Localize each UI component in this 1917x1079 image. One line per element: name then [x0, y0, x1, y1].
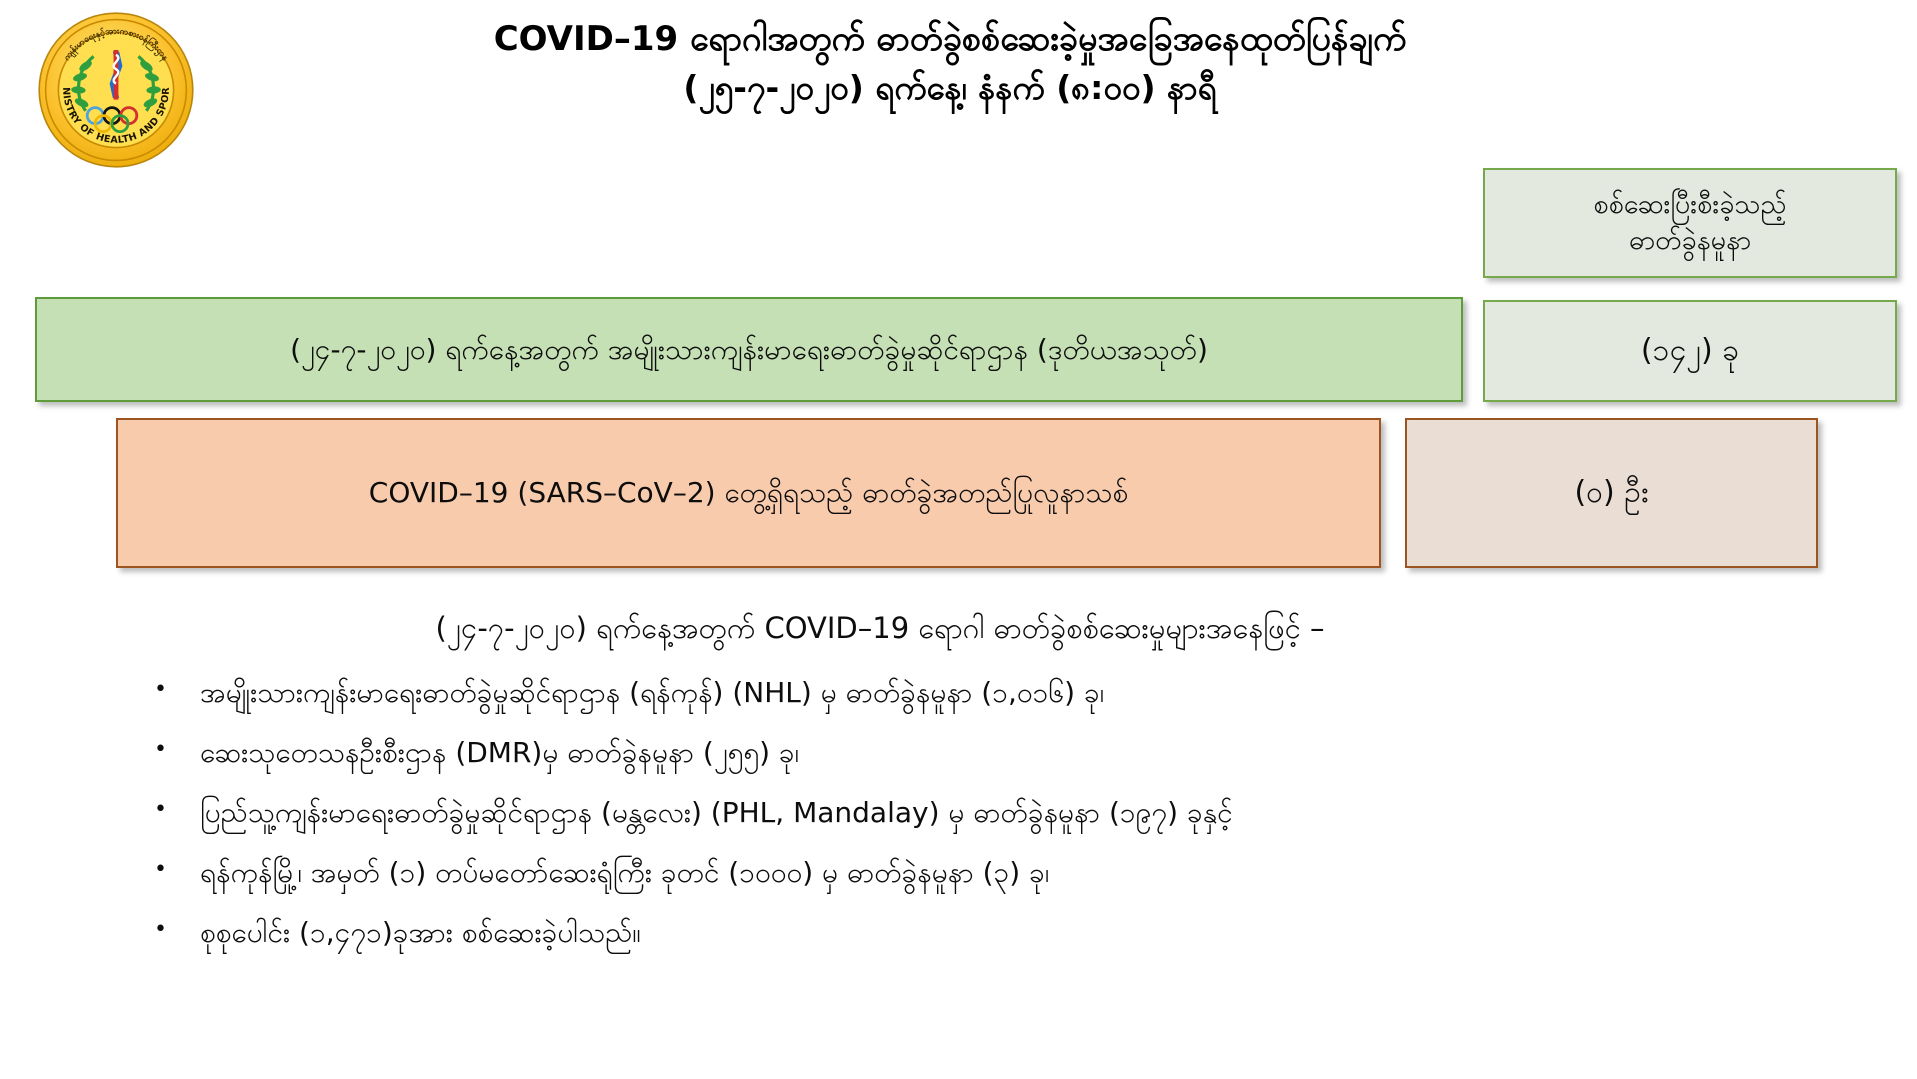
new-confirmed-count: (၀) ဦး: [1574, 473, 1648, 514]
new-confirmed-label: COVID–19 (SARS–CoV–2) တွေ့ရှိရသည့် ဓာတ်ခ…: [369, 474, 1128, 512]
bullet-dot-icon: •: [150, 675, 200, 705]
tested-samples-header-line1: စစ်ဆေးပြီးစီးခဲ့သည့်: [1593, 187, 1786, 223]
list-item: • ဆေးသုတေသနဦးစီးဌာန (DMR)မှ ဓာတ်ခွဲနမူနာ…: [150, 735, 1850, 770]
list-item: • စုစုပေါင်း (၁,၄၇၁)ခုအား စစ်ဆေးခဲ့ပါသည်…: [150, 915, 1850, 950]
list-item-label: ဆေးသုတေသနဦးစီးဌာန (DMR)မှ ဓာတ်ခွဲနမူနာ (…: [200, 735, 1850, 770]
nhl-second-round-label: (၂၄-၇-၂၀၂၀) ရက်နေ့အတွက် အမျိုးသားကျန်းမာ…: [290, 331, 1208, 369]
list-item-label: စုစုပေါင်း (၁,၄၇၁)ခုအား စစ်ဆေးခဲ့ပါသည်။: [200, 915, 1850, 950]
tested-samples-header-line2: ဓာတ်ခွဲနမူနာ: [1593, 223, 1786, 259]
bullet-dot-icon: •: [150, 915, 200, 945]
list-item-label: ပြည်သူ့ကျန်းမာရေးဓာတ်ခွဲမှုဆိုင်ရာဌာန (မ…: [200, 795, 1850, 830]
nhl-second-round-count-box: (၁၄၂) ခု: [1483, 300, 1897, 402]
bullet-dot-icon: •: [150, 735, 200, 765]
page-title: COVID–19 ရောဂါအတွက် ဓာတ်ခွဲစစ်ဆေးခဲ့မှုအ…: [300, 14, 1600, 113]
bullet-dot-icon: •: [150, 795, 200, 825]
title-line-1: COVID–19 ရောဂါအတွက် ဓာတ်ခွဲစစ်ဆေးခဲ့မှုအ…: [300, 14, 1600, 64]
nhl-second-round-label-box: (၂၄-၇-၂၀၂၀) ရက်နေ့အတွက် အမျိုးသားကျန်းမာ…: [35, 297, 1463, 402]
list-item: • ရန်ကုန်မြို့၊ အမှတ် (၁) တပ်မတော်ဆေးရုံ…: [150, 855, 1850, 890]
new-confirmed-count-box: (၀) ဦး: [1405, 418, 1818, 568]
bullet-dot-icon: •: [150, 855, 200, 885]
list-item: • အမျိုးသားကျန်းမာရေးဓာတ်ခွဲမှုဆိုင်ရာဌာ…: [150, 675, 1850, 710]
new-confirmed-label-box: COVID–19 (SARS–CoV–2) တွေ့ရှိရသည့် ဓာတ်ခ…: [116, 418, 1381, 568]
slide-canvas: ကျန်းမာရေးနှင့်အားကစားဝန်ကြီးဌာန MINISTR…: [0, 0, 1917, 1079]
list-item: • ပြည်သူ့ကျန်းမာရေးဓာတ်ခွဲမှုဆိုင်ရာဌာန …: [150, 795, 1850, 830]
summary-bullet-list: • အမျိုးသားကျန်းမာရေးဓာတ်ခွဲမှုဆိုင်ရာဌာ…: [150, 675, 1850, 975]
tested-samples-header-box: စစ်ဆေးပြီးစီးခဲ့သည့် ဓာတ်ခွဲနမူနာ: [1483, 168, 1897, 278]
title-line-2: (၂၅-၇-၂၀၂၀) ရက်နေ့၊ နံနက် (၈:၀၀) နာရီ: [300, 64, 1600, 113]
nhl-second-round-count: (၁၄၂) ခု: [1641, 331, 1739, 372]
ministry-seal-logo: ကျန်းမာရေးနှင့်အားကစားဝန်ကြီးဌာန MINISTR…: [36, 10, 196, 170]
list-item-label: အမျိုးသားကျန်းမာရေးဓာတ်ခွဲမှုဆိုင်ရာဌာန …: [200, 675, 1850, 710]
summary-intro: (၂၄-၇-၂၀၂၀) ရက်နေ့အတွက် COVID–19 ရောဂါ ဓ…: [0, 610, 1760, 653]
list-item-label: ရန်ကုန်မြို့၊ အမှတ် (၁) တပ်မတော်ဆေးရုံကြ…: [200, 855, 1850, 890]
